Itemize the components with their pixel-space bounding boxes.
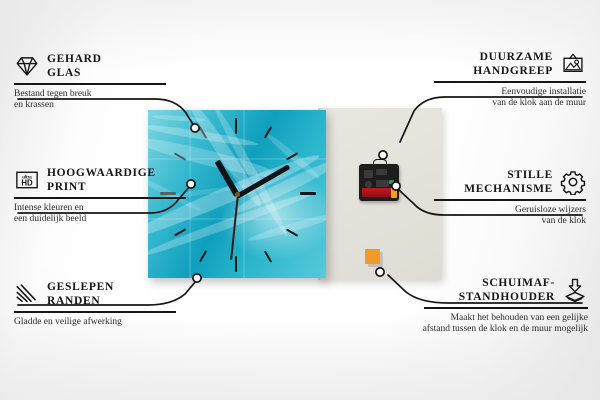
- mechanism-battery: [362, 188, 396, 197]
- feature-header: ultra HD HOOGWAARDIGE PRINT: [14, 166, 204, 194]
- feature-duurzame-handgreep[interactable]: DUURZAME HANDGREEP Eenvoudige installati…: [416, 50, 586, 110]
- picture-frame-icon: [560, 51, 586, 77]
- feature-gehard-glas[interactable]: GEHARD GLAS Bestand tegen breuk en krass…: [14, 52, 184, 112]
- feature-rule: [14, 83, 166, 85]
- feature-description: Eenvoudige installatie van de klok aan d…: [416, 87, 586, 110]
- foam-spacer-pad: [365, 249, 380, 264]
- feature-stille-mechanisme[interactable]: STILLE MECHANISME Geruisloze wijzers van…: [416, 168, 586, 228]
- feature-title: SCHUIMAF- STANDHOUDER: [459, 276, 555, 304]
- foam-spacer-icon: [562, 277, 588, 303]
- feature-description: Intense kleuren en een duidelijk beeld: [14, 203, 204, 226]
- feature-header: GESLEPEN RANDEN: [14, 280, 194, 308]
- feature-description: Geruisloze wijzers van de klok: [416, 205, 586, 228]
- mechanism-detail: [365, 181, 372, 188]
- gear-icon: [560, 169, 586, 195]
- feature-title: DUURZAME HANDGREEP: [473, 50, 553, 78]
- feature-title: STILLE MECHANISME: [464, 168, 553, 196]
- feature-title: GEHARD GLAS: [47, 52, 102, 80]
- feature-description: Bestand tegen breuk en krassen: [14, 89, 184, 112]
- mechanism-detail: [376, 180, 389, 187]
- feature-title: HOOGWAARDIGE PRINT: [47, 166, 156, 194]
- mechanism-hanger-icon: [373, 159, 387, 167]
- beveled-edges-icon: [14, 281, 40, 307]
- clock-center-pin: [235, 192, 240, 197]
- feature-rule: [434, 199, 586, 201]
- feature-rule: [14, 197, 186, 199]
- feature-header: SCHUIMAF- STANDHOUDER: [406, 276, 588, 304]
- mechanism-detail: [364, 170, 373, 178]
- feature-description: Gladde en veilige afwerking: [14, 317, 194, 329]
- feature-description: Maakt het behouden van een gelijke afsta…: [406, 313, 588, 336]
- feature-rule: [424, 307, 588, 309]
- feature-header: DUURZAME HANDGREEP: [416, 50, 586, 78]
- feature-geslepen-randen[interactable]: GESLEPEN RANDEN Gladde en veilige afwerk…: [14, 280, 194, 328]
- svg-text:HD: HD: [21, 179, 33, 188]
- ultra-hd-icon: ultra HD: [14, 167, 40, 193]
- battery-terminal: [391, 187, 397, 198]
- feature-title: GESLEPEN RANDEN: [47, 280, 114, 308]
- feature-rule: [14, 311, 176, 313]
- clock-mechanism: [359, 164, 399, 201]
- mechanism-detail: [389, 180, 394, 184]
- feature-header: GEHARD GLAS: [14, 52, 184, 80]
- diamond-icon: [14, 53, 40, 79]
- feature-rule: [434, 81, 586, 83]
- feature-hoogwaardige-print[interactable]: ultra HD HOOGWAARDIGE PRINT Intense kleu…: [14, 166, 204, 226]
- feature-header: STILLE MECHANISME: [416, 168, 586, 196]
- mechanism-detail: [376, 169, 387, 175]
- feature-schuimafstandhouder[interactable]: SCHUIMAF- STANDHOUDER Maakt het behouden…: [406, 276, 588, 336]
- infographic-canvas: GEHARD GLAS Bestand tegen breuk en krass…: [0, 0, 600, 400]
